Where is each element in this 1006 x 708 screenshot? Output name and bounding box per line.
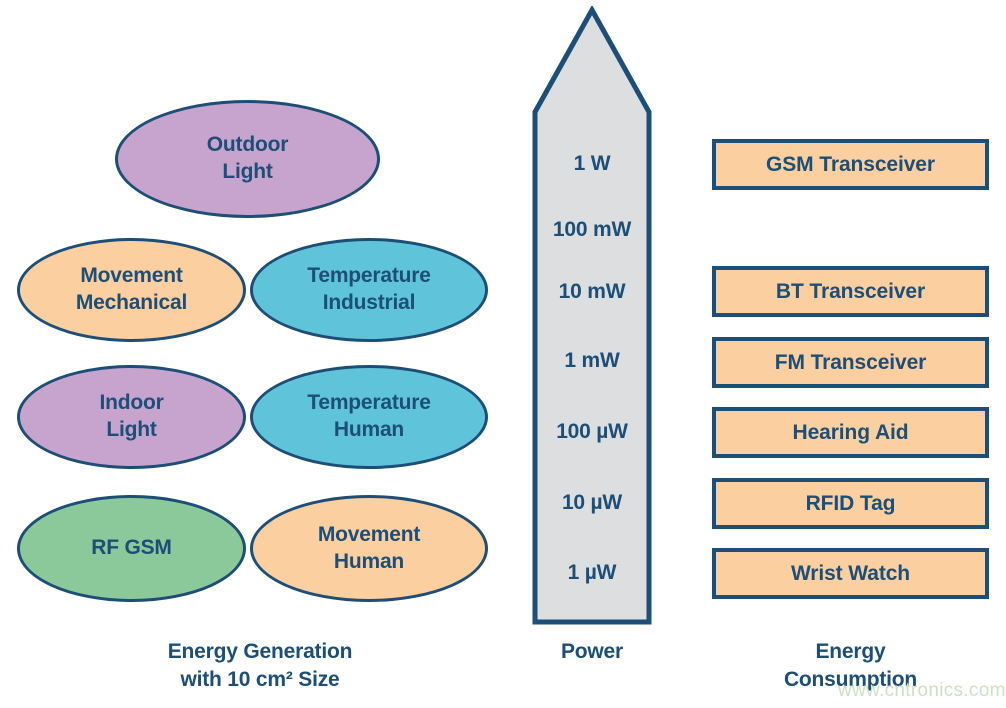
source-label-line1: Temperature xyxy=(307,390,430,417)
caption-line2: with 10 cm² Size xyxy=(180,668,339,691)
source-ellipse-rf-gsm[interactable]: RF GSM xyxy=(17,495,246,602)
energy-generation-caption: Energy Generation with 10 cm² Size xyxy=(70,638,450,693)
device-label: Wrist Watch xyxy=(791,562,910,586)
source-ellipse-movement-mechanical[interactable]: Movement Mechanical xyxy=(17,238,246,342)
source-ellipse-movement-human[interactable]: Movement Human xyxy=(250,495,488,602)
caption-line1: Energy xyxy=(816,640,886,663)
power-arrow-icon xyxy=(529,6,655,626)
source-label-line1: Movement xyxy=(76,263,187,290)
source-label-line2: Industrial xyxy=(307,290,430,317)
source-label-line1: Outdoor xyxy=(207,132,288,159)
power-caption: Power xyxy=(529,638,655,666)
source-label-line1: RF GSM xyxy=(91,535,171,562)
device-box-gsm-transceiver[interactable]: GSM Transceiver xyxy=(712,139,989,190)
device-label: GSM Transceiver xyxy=(766,153,935,177)
device-label: Hearing Aid xyxy=(793,421,909,445)
device-box-rfid-tag[interactable]: RFID Tag xyxy=(712,478,989,529)
device-label: FM Transceiver xyxy=(775,351,927,375)
device-box-wrist-watch[interactable]: Wrist Watch xyxy=(712,548,989,599)
source-label-line2: Human xyxy=(307,417,430,444)
source-label-line2: Light xyxy=(207,159,288,186)
source-ellipse-outdoor-light[interactable]: Outdoor Light xyxy=(115,100,380,218)
caption-line1: Energy Generation xyxy=(168,640,352,663)
caption-text: Power xyxy=(561,640,623,663)
source-label-line2: Human xyxy=(318,549,420,576)
source-ellipse-temperature-industrial[interactable]: Temperature Industrial xyxy=(250,238,488,342)
power-scale-label-1mw: 1 mW xyxy=(529,349,655,373)
source-label-line1: Movement xyxy=(318,522,420,549)
power-scale-label-1w: 1 W xyxy=(529,152,655,176)
power-scale-label-10uw: 10 µW xyxy=(529,491,655,515)
power-scale-label-100uw: 100 µW xyxy=(529,420,655,444)
site-watermark: www.cntronics.com xyxy=(838,680,1006,702)
source-ellipse-indoor-light[interactable]: Indoor Light xyxy=(17,365,246,469)
device-box-fm-transceiver[interactable]: FM Transceiver xyxy=(712,337,989,388)
source-label-line2: Light xyxy=(99,417,163,444)
source-ellipse-temperature-human[interactable]: Temperature Human xyxy=(250,365,488,469)
power-scale-label-10mw: 10 mW xyxy=(529,280,655,304)
source-label-line1: Indoor xyxy=(99,390,163,417)
device-box-hearing-aid[interactable]: Hearing Aid xyxy=(712,407,989,458)
device-label: RFID Tag xyxy=(806,492,896,516)
source-label-line2: Mechanical xyxy=(76,290,187,317)
device-label: BT Transceiver xyxy=(776,280,925,304)
power-scale-label-1uw: 1 µW xyxy=(529,561,655,585)
device-box-bt-transceiver[interactable]: BT Transceiver xyxy=(712,266,989,317)
source-label-line1: Temperature xyxy=(307,263,430,290)
power-scale-label-100mw: 100 mW xyxy=(529,218,655,242)
diagram-canvas: Outdoor Light Movement Mechanical Temper… xyxy=(0,0,1006,708)
